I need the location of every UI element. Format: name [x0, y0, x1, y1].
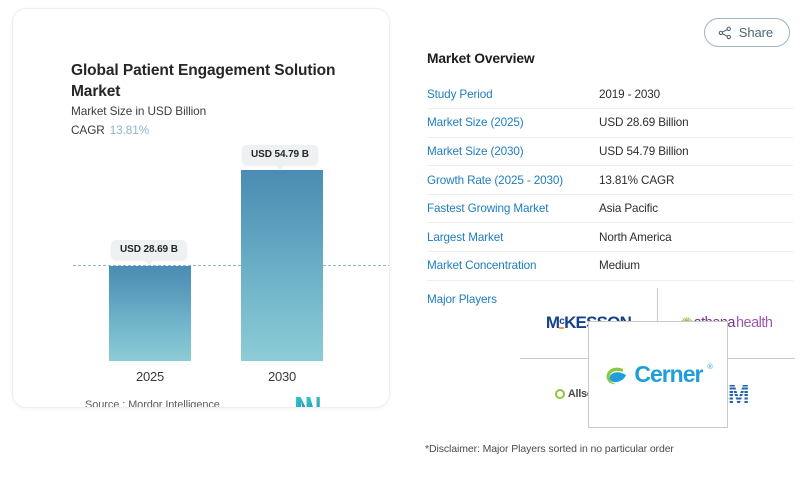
bar-chart-plot: USD 28.69 B USD 54.79 B 2025 2030 [13, 9, 390, 408]
table-row: Market Concentration Medium [427, 252, 793, 281]
table-row: Market Size (2030) USD 54.79 Billion [427, 137, 793, 166]
row-label-growth-rate: Growth Rate (2025 - 2030) [427, 166, 599, 195]
row-value-market-size-2030: USD 54.79 Billion [599, 137, 793, 166]
source-text: Source : Mordor Intelligence [85, 399, 220, 408]
row-value-growth-rate: 13.81% CAGR [599, 166, 793, 195]
overview-heading: Market Overview [427, 51, 534, 66]
major-players-label: Major Players [427, 293, 497, 306]
table-row: Study Period 2019 - 2030 [427, 80, 793, 109]
market-report-widget: Global Patient Engagement Solution Marke… [0, 0, 800, 482]
athena-light: health [736, 315, 773, 331]
player-logo-cerner: Cerner ® [588, 321, 728, 428]
major-players-logo-grid: McKESSON ✺athenahealth Allscripts® IBM C… [520, 288, 795, 428]
row-label-largest-market: Largest Market [427, 223, 599, 252]
overview-table: Study Period 2019 - 2030 Market Size (20… [427, 80, 793, 281]
share-button[interactable]: Share [704, 18, 790, 47]
table-row: Growth Rate (2025 - 2030) 13.81% CAGR [427, 166, 793, 195]
share-button-label: Share [739, 25, 773, 40]
bar-value-label-2030: USD 54.79 B [242, 145, 318, 165]
disclaimer-text: *Disclaimer: Major Players sorted in no … [425, 443, 674, 455]
trademark-symbol: ® [707, 364, 712, 371]
table-row: Fastest Growing Market Asia Pacific [427, 194, 793, 223]
cerner-swoosh-icon [603, 362, 629, 388]
row-value-largest-market: North America [599, 223, 793, 252]
market-overview-panel: Share Market Overview Study Period 2019 … [410, 0, 800, 482]
row-label-market-size-2030: Market Size (2030) [427, 137, 599, 166]
bar-value-label-2025: USD 28.69 B [111, 240, 187, 260]
share-icon [718, 26, 732, 40]
row-label-fastest-growing-market: Fastest Growing Market [427, 194, 599, 223]
table-row: Market Size (2025) USD 28.69 Billion [427, 109, 793, 138]
row-value-study-period: 2019 - 2030 [599, 80, 793, 109]
row-label-study-period: Study Period [427, 80, 599, 109]
bar-2030[interactable] [241, 170, 323, 361]
cerner-word: Cerner [634, 361, 702, 388]
bar-2025[interactable] [109, 266, 191, 361]
row-label-market-concentration: Market Concentration [427, 252, 599, 281]
cerner-logo-text: Cerner ® [603, 361, 712, 388]
row-value-fastest-growing-market: Asia Pacific [599, 194, 793, 223]
mordor-intelligence-logo [296, 397, 323, 408]
x-axis-tick-2030: 2030 [227, 369, 337, 384]
row-label-market-size-2025: Market Size (2025) [427, 109, 599, 138]
mckesson-sup: c [559, 316, 564, 329]
chart-card: Global Patient Engagement Solution Marke… [12, 8, 390, 408]
table-row: Largest Market North America [427, 223, 793, 252]
row-value-market-concentration: Medium [599, 252, 793, 281]
mckesson-prefix: M [546, 313, 559, 333]
allscripts-mark-icon [555, 389, 565, 399]
x-axis-tick-2025: 2025 [95, 369, 205, 384]
row-value-market-size-2025: USD 28.69 Billion [599, 109, 793, 138]
